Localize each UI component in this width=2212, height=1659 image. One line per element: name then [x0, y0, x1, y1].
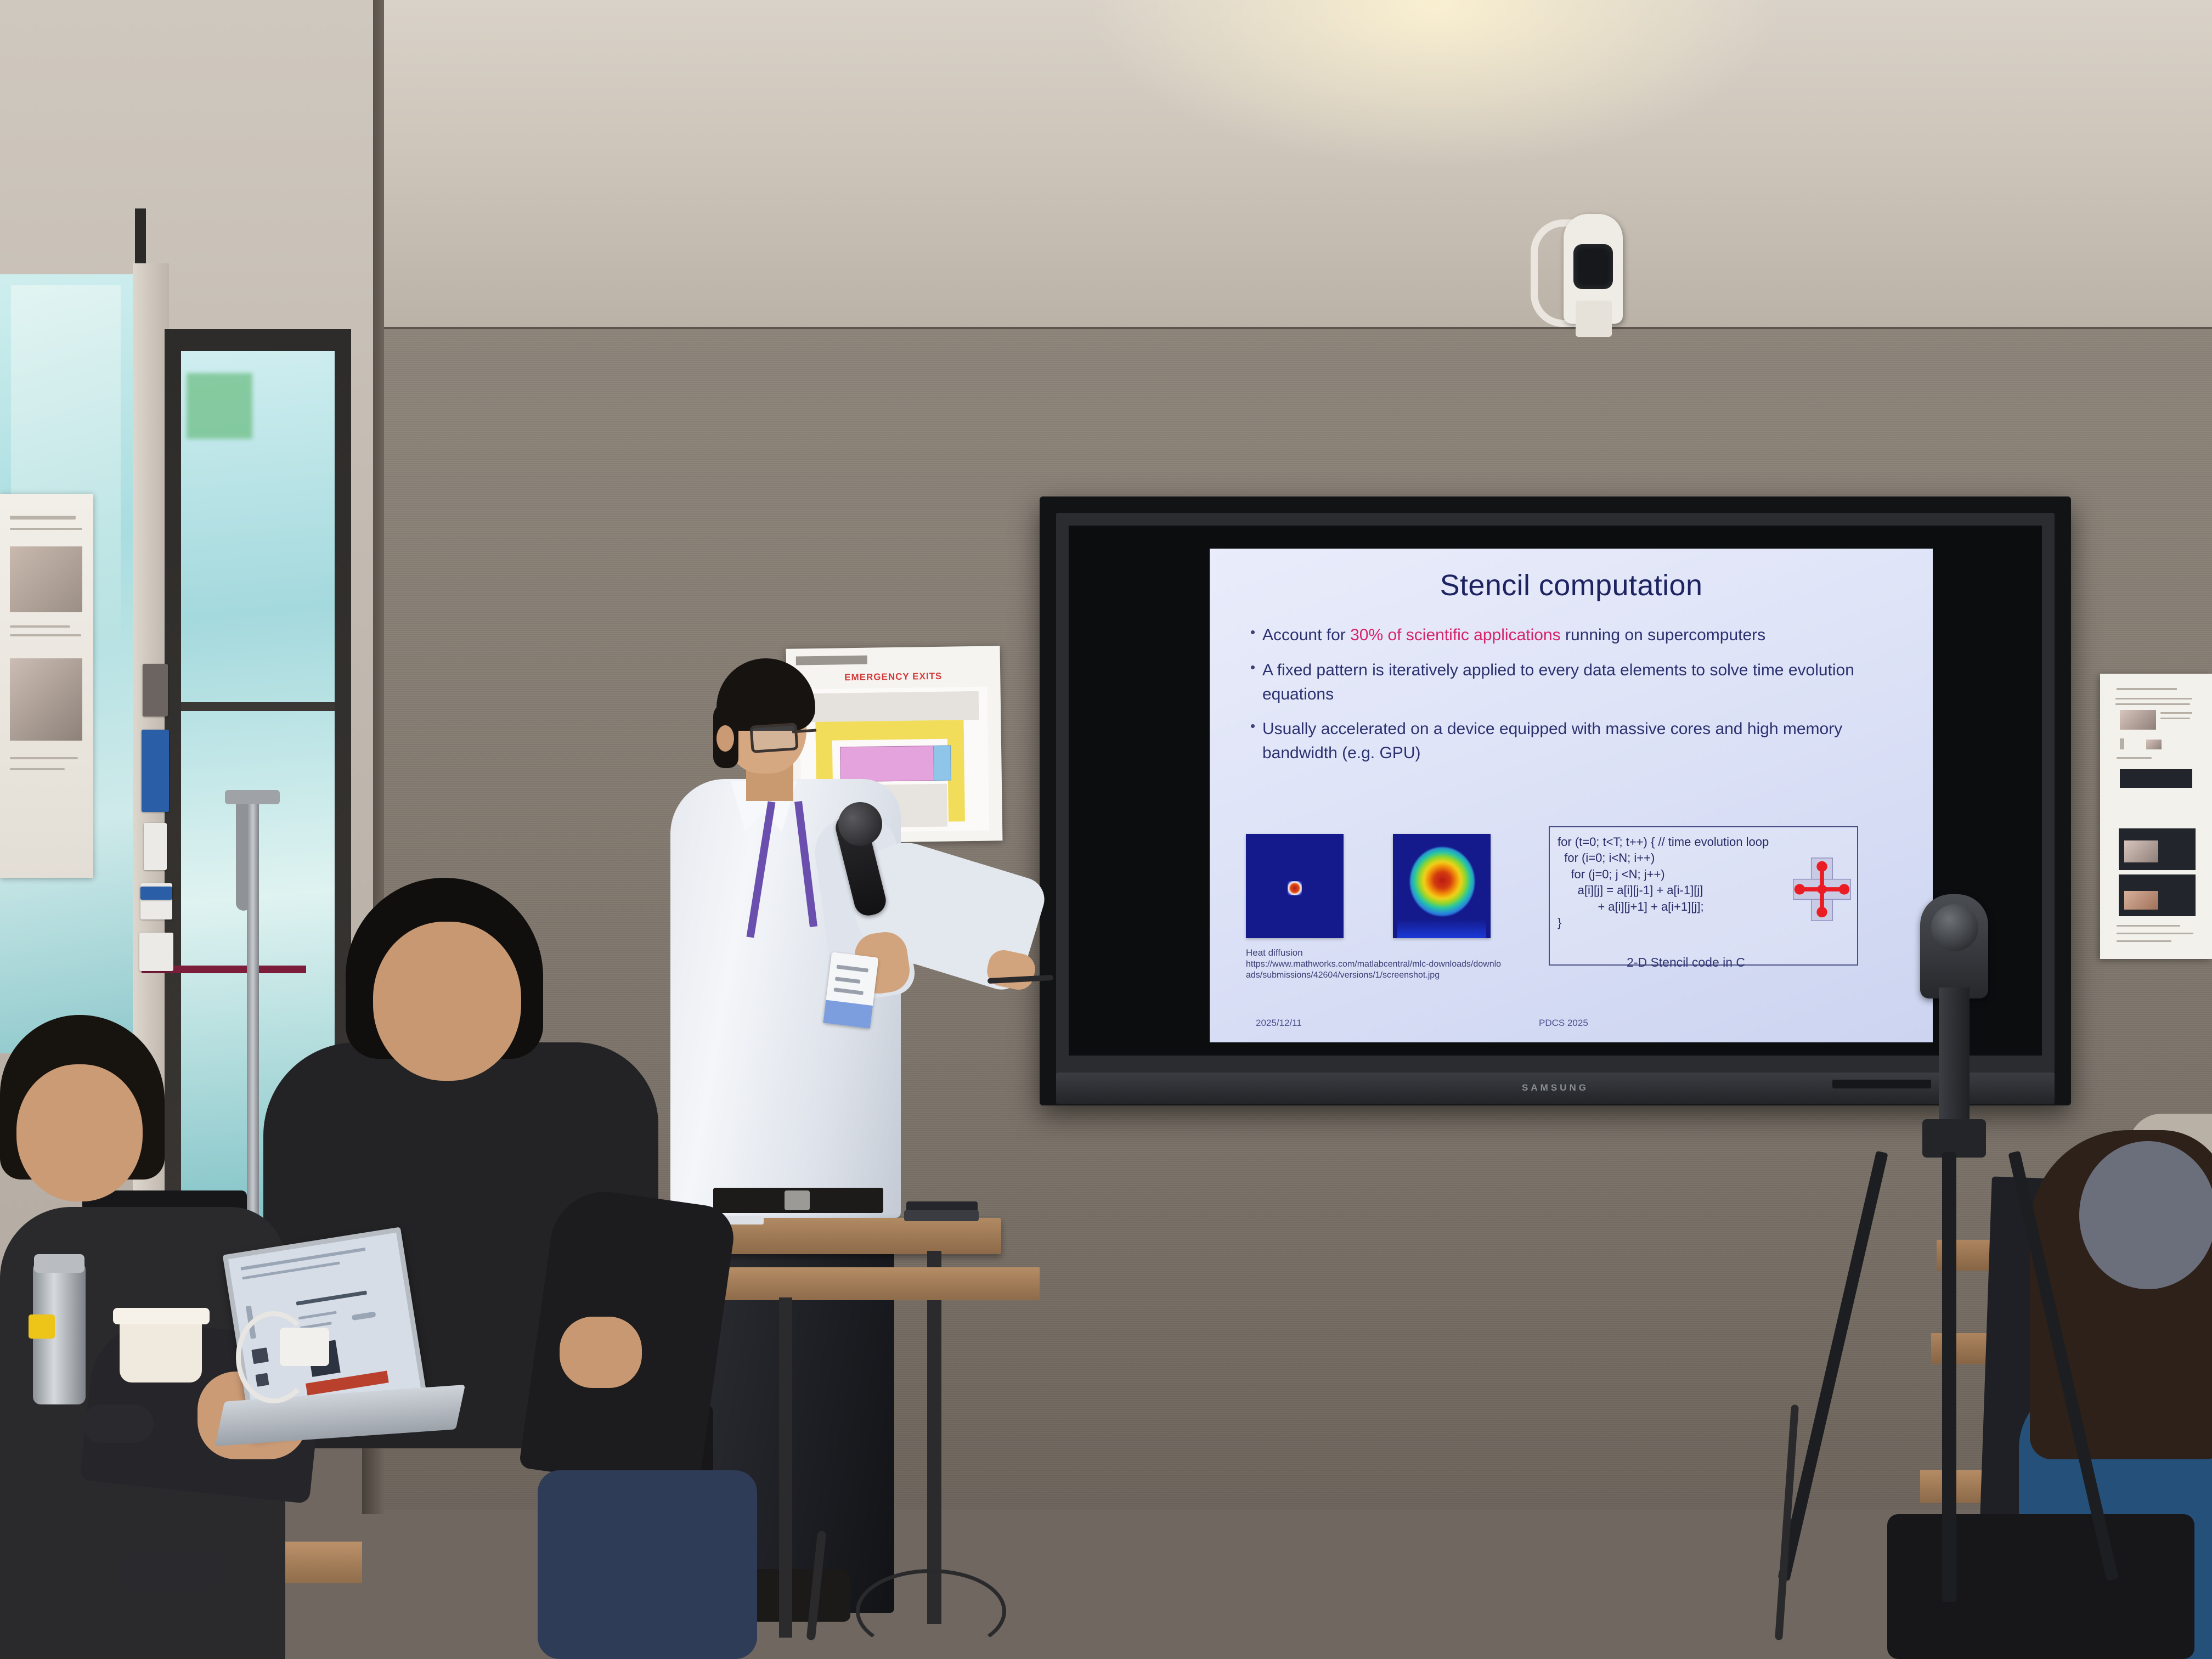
- door-placard-info-blue: [142, 730, 169, 812]
- heat-caption-label: Heat diffusion: [1246, 947, 1504, 959]
- audience-member-1-head: [16, 1064, 143, 1201]
- door-placard-blue-band: [140, 887, 172, 900]
- phone-lower[interactable]: [904, 1210, 979, 1221]
- tripod-leg-center: [1942, 1152, 1956, 1602]
- audience-member-2-head: [373, 922, 521, 1081]
- camera-lens-icon: [1931, 904, 1978, 951]
- conference-badge: [823, 952, 878, 1029]
- chair-right[interactable]: [1887, 1514, 2194, 1659]
- display-chin: SAMSUNG: [1056, 1073, 2055, 1104]
- presentation-slide: Stencil computation • Account for 30% of…: [1210, 549, 1933, 1042]
- podium-leg: [927, 1251, 941, 1624]
- heat-diffusion-initial: [1246, 834, 1344, 938]
- door-placard-lower: [139, 933, 173, 971]
- floor-cable-loop: [856, 1569, 1006, 1654]
- code-text: for (t=0; t<T; t++) { // time evolution …: [1558, 834, 1769, 931]
- bullet-marker: •: [1250, 658, 1262, 676]
- slide-title: Stencil computation: [1210, 568, 1933, 602]
- stanchion-top: [225, 790, 280, 804]
- bullet-text: A fixed pattern is iteratively applied t…: [1262, 658, 1898, 707]
- cup-lid[interactable]: [113, 1308, 210, 1324]
- presenter-belt-buckle: [785, 1190, 810, 1210]
- camera-neck: [1939, 988, 1970, 1125]
- heat-source-icon: [1288, 881, 1302, 895]
- bullet-text: Usually accelerated on a device equipped…: [1262, 717, 1898, 765]
- stencil-cross-icon: [1790, 854, 1854, 925]
- heat-caption-url: https://www.mathworks.com/matlabcentral/…: [1246, 959, 1504, 981]
- cctv-lens-icon: [1573, 244, 1613, 289]
- door-placard-white: [144, 823, 167, 870]
- audience-member-2-hand: [560, 1317, 642, 1388]
- audience-member-2-leg: [538, 1470, 757, 1659]
- power-adapter: [280, 1328, 329, 1366]
- emergency-exit-title: EMERGENCY EXITS: [786, 670, 1000, 684]
- right-wall-poster: [2100, 674, 2212, 959]
- computer-mouse[interactable]: [82, 1404, 154, 1443]
- glasses-icon: [749, 723, 798, 753]
- poster-logo: [796, 656, 867, 665]
- bullet-marker: •: [1250, 717, 1262, 735]
- left-wall-poster: [0, 494, 93, 878]
- bottle-label: [29, 1314, 55, 1339]
- code-block: for (t=0; t<T; t++) { // time evolution …: [1549, 826, 1858, 966]
- heat-edge-glow: [1397, 919, 1486, 938]
- conference-room-photo: EMERGENCY EXITS Stenci: [0, 0, 2212, 1659]
- display-ports: [1832, 1080, 1931, 1088]
- list-item: • Usually accelerated on a device equipp…: [1250, 717, 1898, 765]
- presenter-ear: [716, 725, 734, 752]
- list-item: • Account for 30% of scientific applicat…: [1250, 623, 1898, 647]
- door-glass-divider: [181, 702, 335, 711]
- paper-cup[interactable]: [120, 1317, 202, 1383]
- bottle-cap[interactable]: [34, 1254, 84, 1273]
- dark-object-on-desk: [121, 1558, 219, 1585]
- heat-blob-icon: [1410, 847, 1475, 916]
- audience-member-3-head: [2079, 1141, 2212, 1289]
- upper-wall: [362, 0, 2212, 340]
- door-placard-sign: [143, 664, 168, 716]
- heat-diffusion-evolved: [1393, 834, 1491, 938]
- cctv-mount: [1576, 301, 1612, 337]
- slide-footer-event: PDCS 2025: [1539, 1017, 1588, 1029]
- bullet-highlight: 30% of scientific applications: [1350, 626, 1561, 644]
- heat-diffusion-caption: Heat diffusion https://www.mathworks.com…: [1246, 947, 1504, 981]
- slide-footer-date: 2025/12/11: [1256, 1017, 1302, 1029]
- desk-leg: [779, 1297, 792, 1638]
- door-green-reflection: [187, 373, 252, 439]
- bullet-text: Account for 30% of scientific applicatio…: [1262, 623, 1765, 647]
- list-item: • A fixed pattern is iteratively applied…: [1250, 658, 1898, 707]
- slide-bullet-list: • Account for 30% of scientific applicat…: [1250, 623, 1898, 776]
- code-caption: 2-D Stencil code in C: [1627, 955, 1745, 970]
- bullet-marker: •: [1250, 623, 1262, 641]
